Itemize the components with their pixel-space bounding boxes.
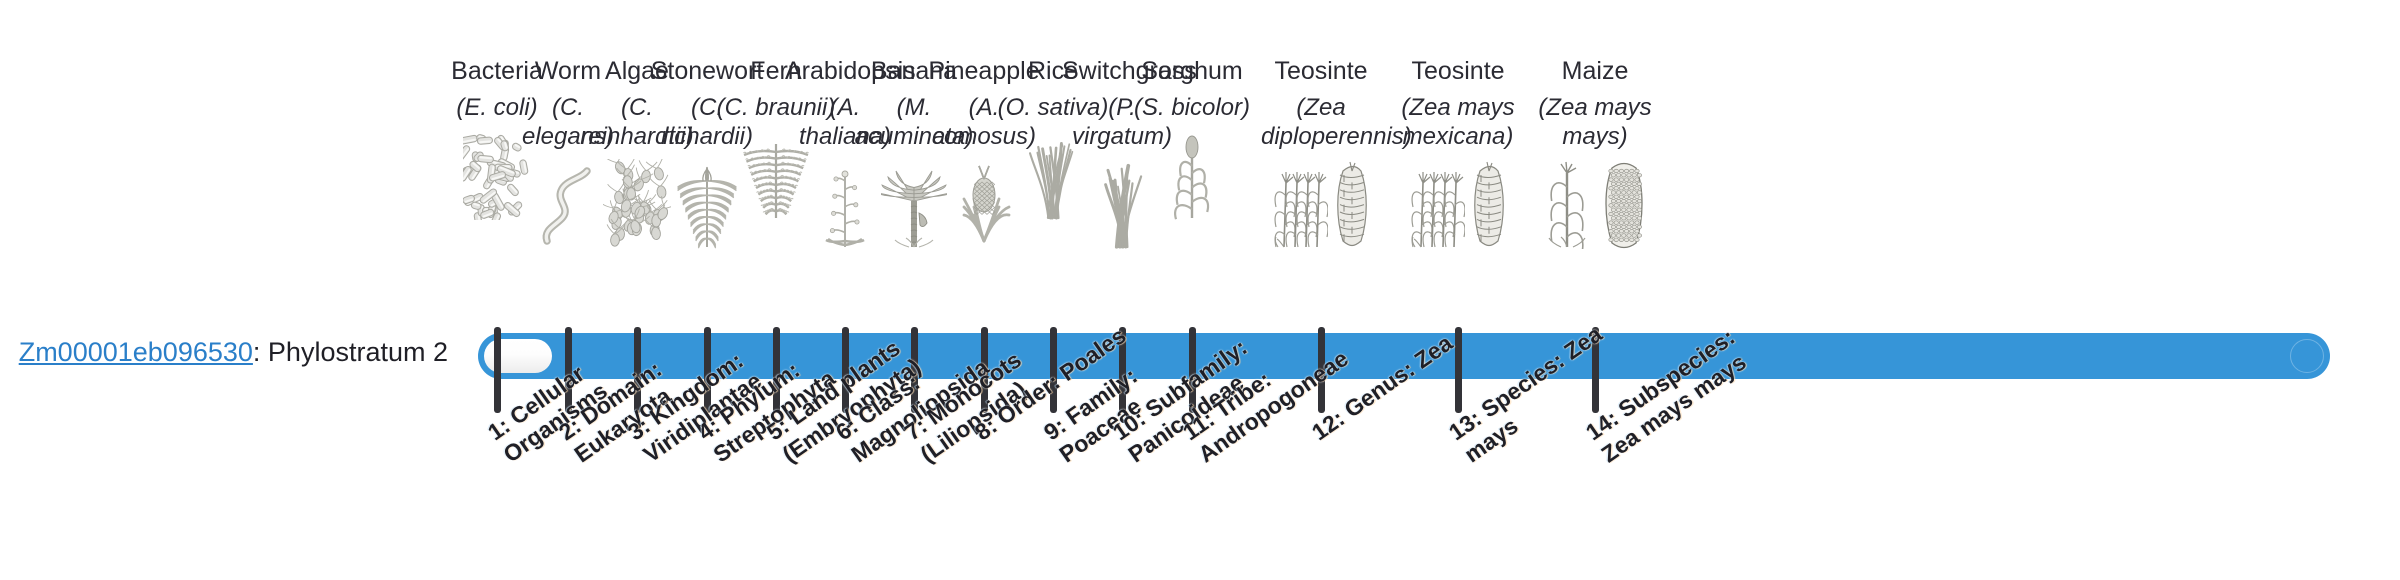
species-common-name: Teosinte [1398,56,1518,86]
gene-id-link[interactable]: Zm00001eb096530 [19,337,253,367]
species-latin-name: (Zea mays mexicana) [1398,93,1518,151]
species-latin-name: (Zea diploperennis) [1261,93,1381,151]
sorghum-plant-icon [1132,128,1252,220]
teosinte-plant-ear-icon [1261,157,1381,249]
phylostratigraphy-timeline: Zm00001eb096530: Phylostratum 2 Bacteria… [0,0,2400,580]
timeline-bar-end-cap [2290,339,2324,373]
maize-plant-cob-icon [1535,157,1655,249]
species-column-teosinte-12: Teosinte(Zea mays mexicana) [1398,56,1518,249]
phylostratum-text: Phylostratum 2 [268,337,448,367]
species-column-sorghum-10: Sorghum(S. bicolor) [1132,56,1252,220]
timeline-bar-unfilled-segment [484,339,552,373]
species-common-name: Teosinte [1261,56,1381,86]
stratum-name: Species: Zea mays [1459,321,1606,468]
gene-label-separator: : [253,337,268,367]
species-common-name: Sorghum [1132,56,1252,86]
species-column-maize-13: Maize(Zea mays mays) [1535,56,1655,249]
species-latin-name: (Zea mays mays) [1535,93,1655,151]
teosinte-plant-ear-icon [1398,157,1518,249]
species-column-teosinte-11: Teosinte(Zea diploperennis) [1261,56,1381,249]
species-common-name: Maize [1535,56,1655,86]
species-latin-name: (S. bicolor) [1132,93,1252,122]
stratum-tick-1[interactable] [494,327,501,413]
gene-phylostratum-label: Zm00001eb096530: Phylostratum 2 [0,335,448,369]
